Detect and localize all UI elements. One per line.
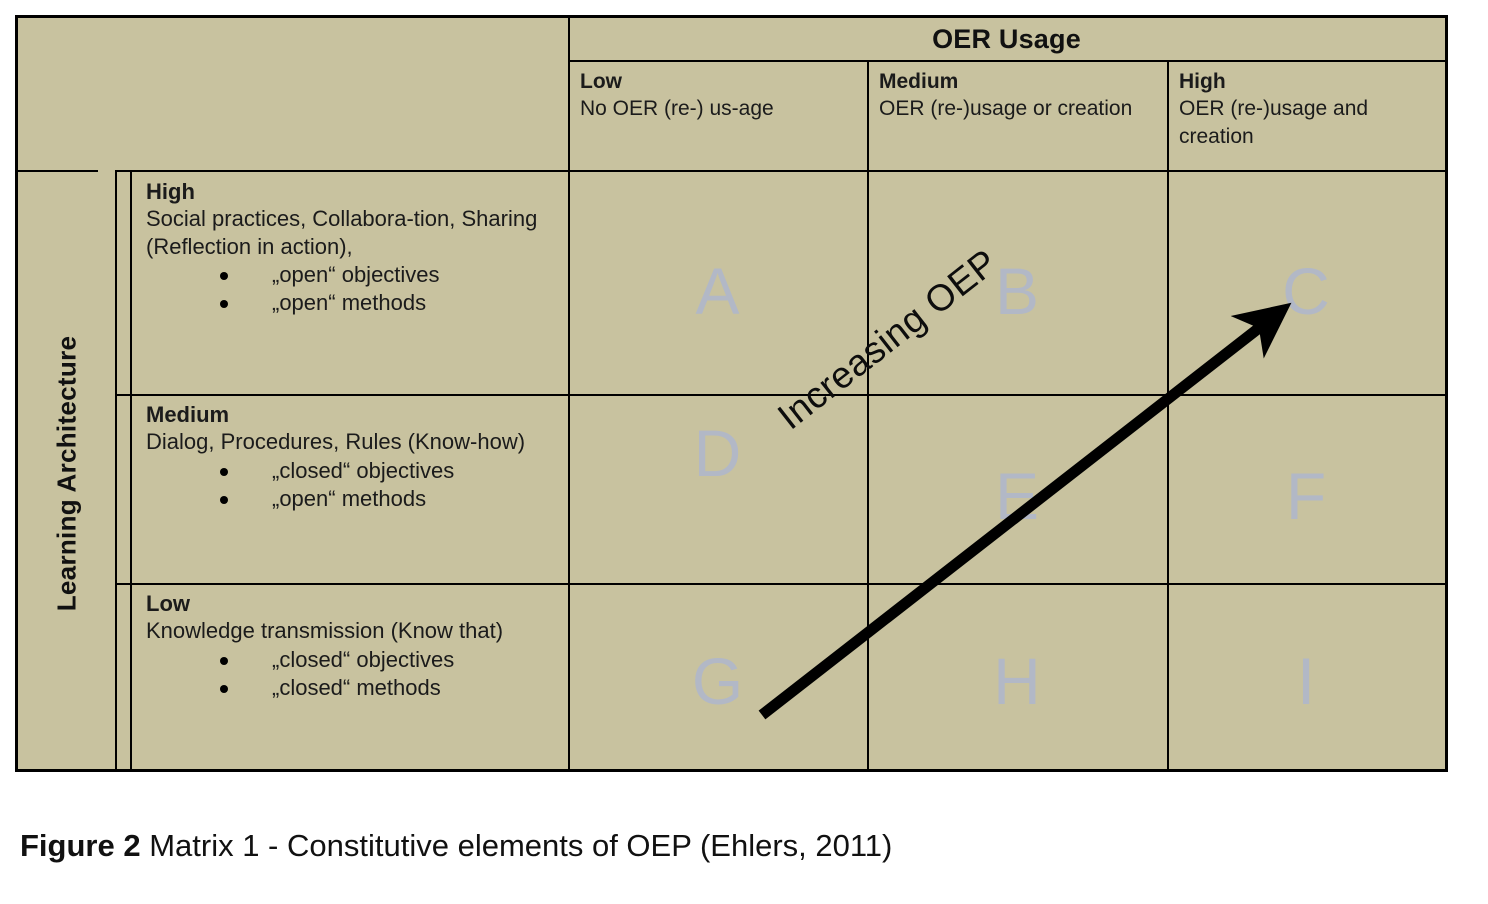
row-axis-title-cell: Learning Architecture: [18, 173, 115, 773]
matrix-cell-f: F: [1167, 458, 1445, 534]
column-header-high-description: OER (re-)usage and creation: [1179, 95, 1437, 150]
column-header-low-level: Low: [580, 68, 859, 95]
list-item: „open“ methods: [220, 485, 562, 512]
column-header-medium: Medium OER (re-)usage or creation: [869, 64, 1167, 170]
grid-line-h-header-body-left: [18, 170, 98, 172]
matrix-cell-a: A: [568, 253, 867, 329]
row-header-high-level: High: [146, 178, 562, 205]
matrix-cell-d: D: [568, 415, 867, 491]
column-header-low: Low No OER (re-) us-age: [570, 64, 867, 170]
column-header-high: High OER (re-)usage and creation: [1169, 64, 1445, 170]
matrix-cell-e: E: [867, 458, 1167, 534]
figure-caption-text: Matrix 1 - Constitutive elements of OEP …: [141, 828, 893, 863]
list-item: „open“ methods: [220, 289, 562, 316]
row-header-high-bullet-list: „open“ objectives „open“ methods: [146, 261, 562, 317]
list-item: „open“ objectives: [220, 261, 562, 288]
grid-line-h-oer-usage-underline: [568, 60, 1445, 62]
figure-2-oep-matrix: OER Usage Low No OER (re-) us-age Medium…: [0, 0, 1488, 904]
column-axis-title: OER Usage: [568, 18, 1445, 60]
list-item: „closed“ methods: [220, 674, 562, 701]
column-header-medium-description: OER (re-)usage or creation: [879, 95, 1159, 122]
row-header-high-description: Social practices, Collabora-tion, Sharin…: [146, 205, 562, 260]
matrix-cell-c: C: [1167, 253, 1445, 329]
row-axis-title: Learning Architecture: [51, 335, 82, 611]
row-header-medium: Medium Dialog, Procedures, Rules (Know-h…: [132, 398, 568, 513]
row-header-high: High Social practices, Collabora-tion, S…: [132, 175, 568, 317]
row-header-medium-description: Dialog, Procedures, Rules (Know-how): [146, 428, 562, 455]
grid-line-h-row-medium-low: [115, 583, 1445, 585]
figure-caption-label: Figure 2: [20, 828, 141, 863]
row-header-medium-bullet-list: „closed“ objectives „open“ methods: [146, 457, 562, 513]
grid-line-v-axis-column: [115, 170, 117, 769]
grid-line-h-header-body-main: [115, 170, 1445, 172]
matrix-cell-i: I: [1167, 643, 1445, 719]
column-header-low-description: No OER (re-) us-age: [580, 95, 859, 122]
row-header-medium-level: Medium: [146, 401, 562, 428]
oep-constitutive-elements-matrix: OER Usage Low No OER (re-) us-age Medium…: [15, 15, 1448, 772]
row-header-low-bullet-list: „closed“ objectives „closed“ methods: [146, 646, 562, 702]
row-header-low-level: Low: [146, 590, 562, 617]
matrix-cell-h: H: [867, 643, 1167, 719]
list-item: „closed“ objectives: [220, 646, 562, 673]
row-header-low: Low Knowledge transmission (Know that) „…: [132, 587, 568, 702]
column-header-high-level: High: [1179, 68, 1437, 95]
list-item: „closed“ objectives: [220, 457, 562, 484]
figure-caption: Figure 2 Matrix 1 - Constitutive element…: [20, 828, 892, 864]
matrix-cell-g: G: [568, 643, 867, 719]
row-header-low-description: Knowledge transmission (Know that): [146, 617, 562, 644]
column-header-medium-level: Medium: [879, 68, 1159, 95]
